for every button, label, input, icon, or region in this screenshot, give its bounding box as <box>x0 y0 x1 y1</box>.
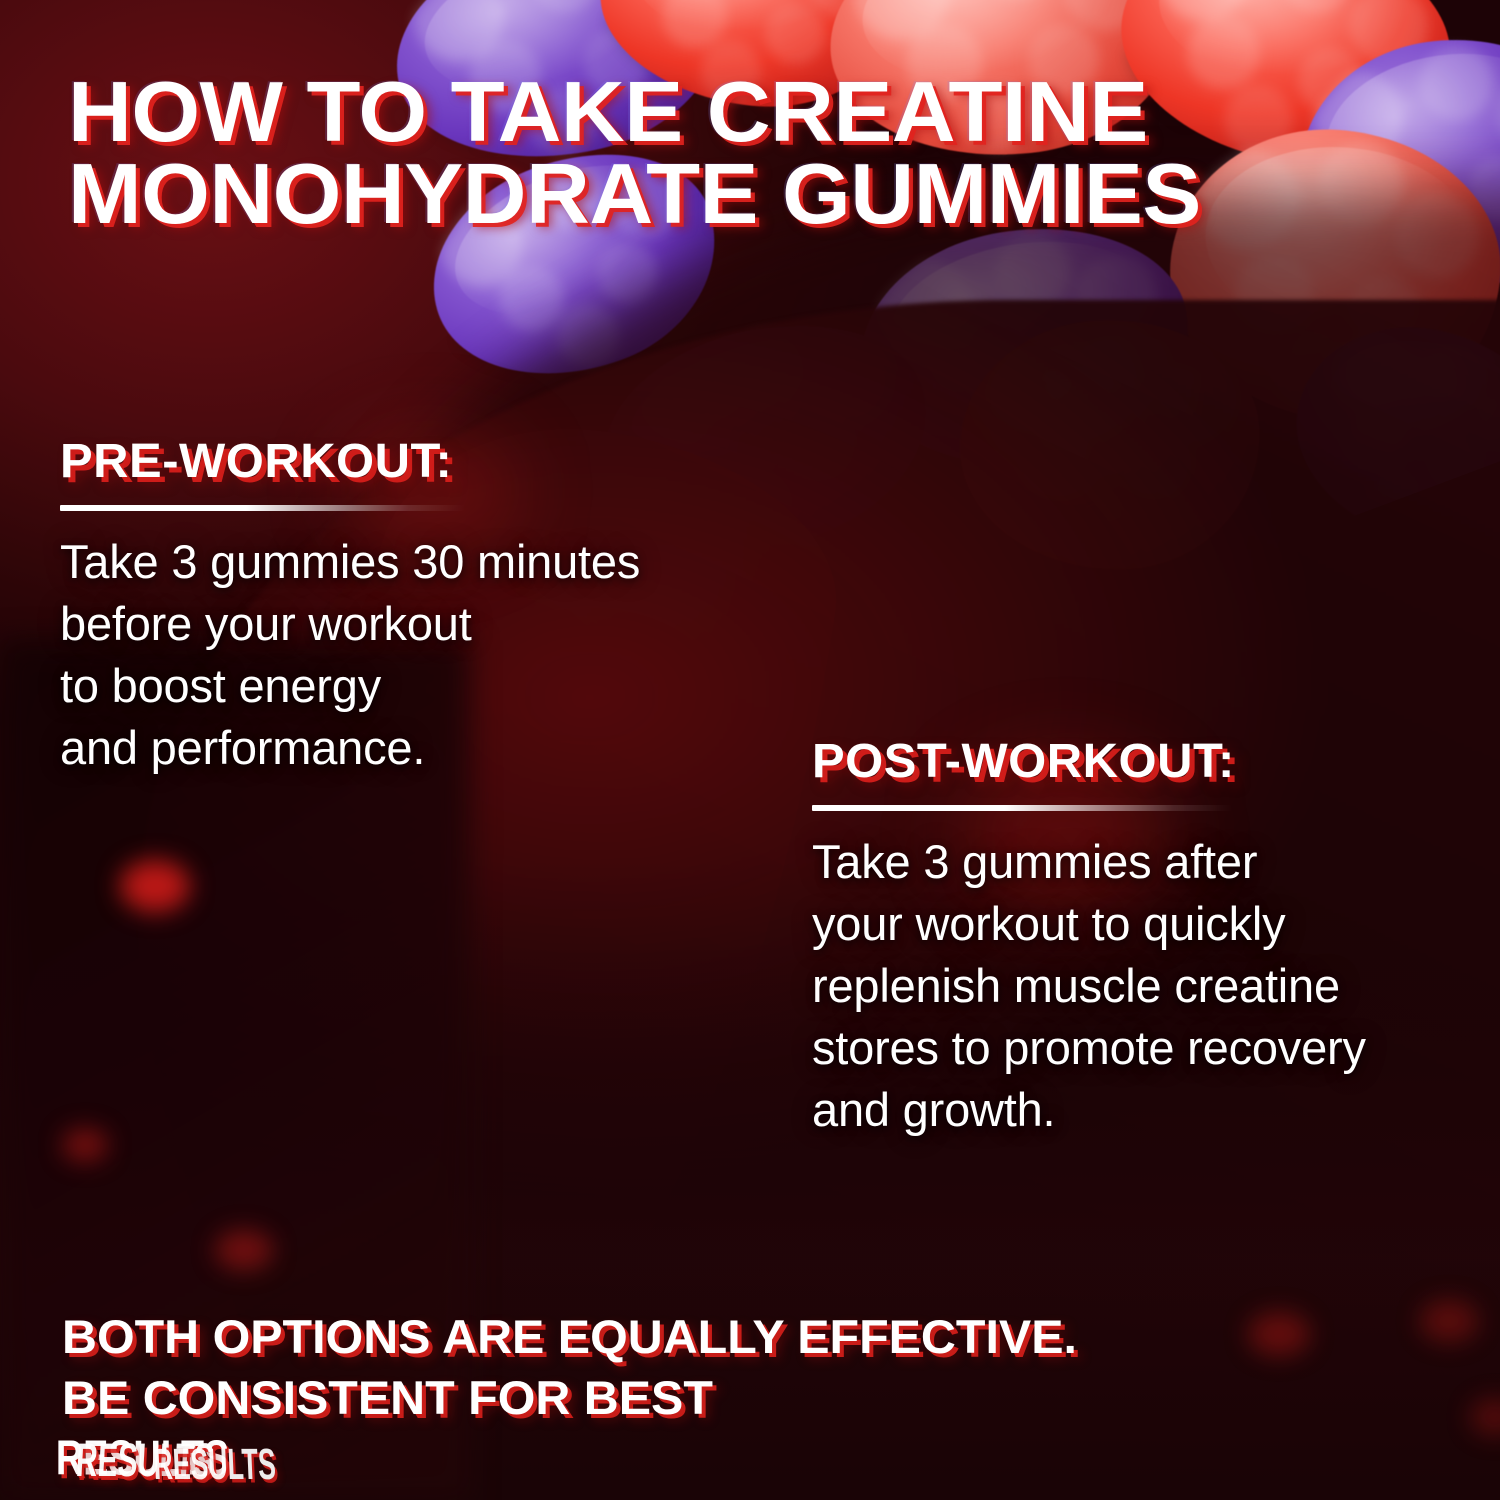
footer-line-1: BOTH OPTIONS ARE EQUALLY EFFECTIVE. <box>62 1306 1483 1367</box>
heading-underline <box>60 505 465 511</box>
title-line-2: MONOHYDRATE GUMMIES <box>68 154 1500 236</box>
poster-canvas: HOW TO TAKE CREATINE MONOHYDRATE GUMMIES… <box>0 0 1500 1500</box>
title-line-1: HOW TO TAKE CREATINE <box>68 65 1148 160</box>
glitch-layer-echo-b: RESULTS <box>152 1435 277 1492</box>
section-heading-pre-workout: PRE-WORKOUT: <box>60 434 835 489</box>
body-line: Take 3 gummies after <box>812 831 1472 893</box>
body-line: Take 3 gummies 30 minutes <box>60 531 820 593</box>
footer-line-2-prefix: BE CONSISTENT FOR BEST <box>62 1367 1483 1428</box>
section-body-pre-workout: Take 3 gummies 30 minutes before your wo… <box>60 531 820 779</box>
page-title: HOW TO TAKE CREATINE MONOHYDRATE GUMMIES <box>68 72 1500 237</box>
footer-glitch-word: RESULTSRESULTSRESULTS <box>56 1428 1484 1489</box>
body-line: stores to promote recovery <box>812 1017 1472 1079</box>
footer-callout: BOTH OPTIONS ARE EQUALLY EFFECTIVE. BE C… <box>62 1306 1483 1489</box>
body-line: to boost energy <box>60 655 820 717</box>
body-line: your workout to quickly <box>812 893 1472 955</box>
body-line: and growth. <box>812 1079 1472 1141</box>
heading-underline <box>812 805 1232 811</box>
section-post-workout: POST-WORKOUT: Take 3 gummies after your … <box>812 734 1472 1141</box>
body-line: before your workout <box>60 593 820 655</box>
footer-line-2: BE CONSISTENT FOR BEST RESULTSRESULTSRES… <box>62 1367 1483 1489</box>
body-line: replenish muscle creatine <box>812 955 1472 1017</box>
section-body-post-workout: Take 3 gummies after your workout to qui… <box>812 831 1472 1141</box>
section-heading-post-workout: POST-WORKOUT: <box>812 734 1485 789</box>
section-pre-workout: PRE-WORKOUT: Take 3 gummies 30 minutes b… <box>60 434 820 779</box>
body-line: and performance. <box>60 717 820 779</box>
